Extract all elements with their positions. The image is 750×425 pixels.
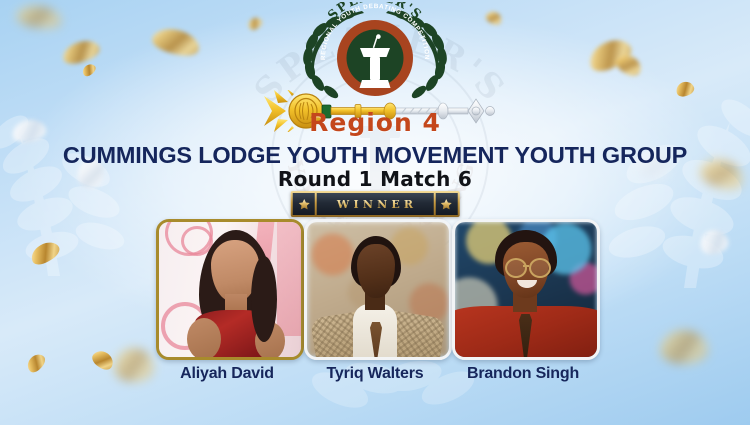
contestant-photo-2 xyxy=(304,219,452,360)
confetti-gold-15 xyxy=(246,15,264,32)
confetti-gold-1 xyxy=(60,37,102,68)
round-title: Round 1 Match 6 xyxy=(0,167,750,191)
star-icon-left xyxy=(293,193,315,215)
contestant-card-3: Brandon Singh xyxy=(452,219,594,383)
contestant-photo-1 xyxy=(156,219,304,360)
confetti-gold-6 xyxy=(613,51,645,80)
contestant-card-1: Aliyah David xyxy=(156,219,298,383)
contestant-list: Aliyah David Tyriq Walters xyxy=(0,219,750,383)
winner-announcement-poster: SPEAKER'S YOUTH DEBATING xyxy=(0,0,750,425)
confetti-gold-2 xyxy=(150,25,202,60)
winner-label: WINNER xyxy=(333,198,418,211)
contestant-name-3: Brandon Singh xyxy=(452,365,594,383)
confetti-gold-14 xyxy=(484,9,504,27)
contestant-photo-3-image xyxy=(455,222,597,357)
contestant-photo-2-image xyxy=(307,222,449,357)
contestant-photo-1-image xyxy=(159,222,301,357)
contestant-photo-3 xyxy=(452,219,600,360)
winner-label-cell: WINNER xyxy=(317,193,434,215)
contestant-name-2: Tyriq Walters xyxy=(304,365,446,383)
region-label: Region 4 xyxy=(0,108,750,137)
confetti-gold-5 xyxy=(585,34,636,77)
winner-badge: WINNER xyxy=(291,191,460,217)
contestant-card-2: Tyriq Walters xyxy=(304,219,446,383)
confetti-gold-3 xyxy=(80,62,97,79)
group-title: CUMMINGS LODGE YOUTH MOVEMENT YOUTH GROU… xyxy=(0,142,750,169)
confetti-gold-4 xyxy=(15,3,64,31)
contestant-name-1: Aliyah David xyxy=(156,365,298,383)
star-icon-right xyxy=(435,193,457,215)
